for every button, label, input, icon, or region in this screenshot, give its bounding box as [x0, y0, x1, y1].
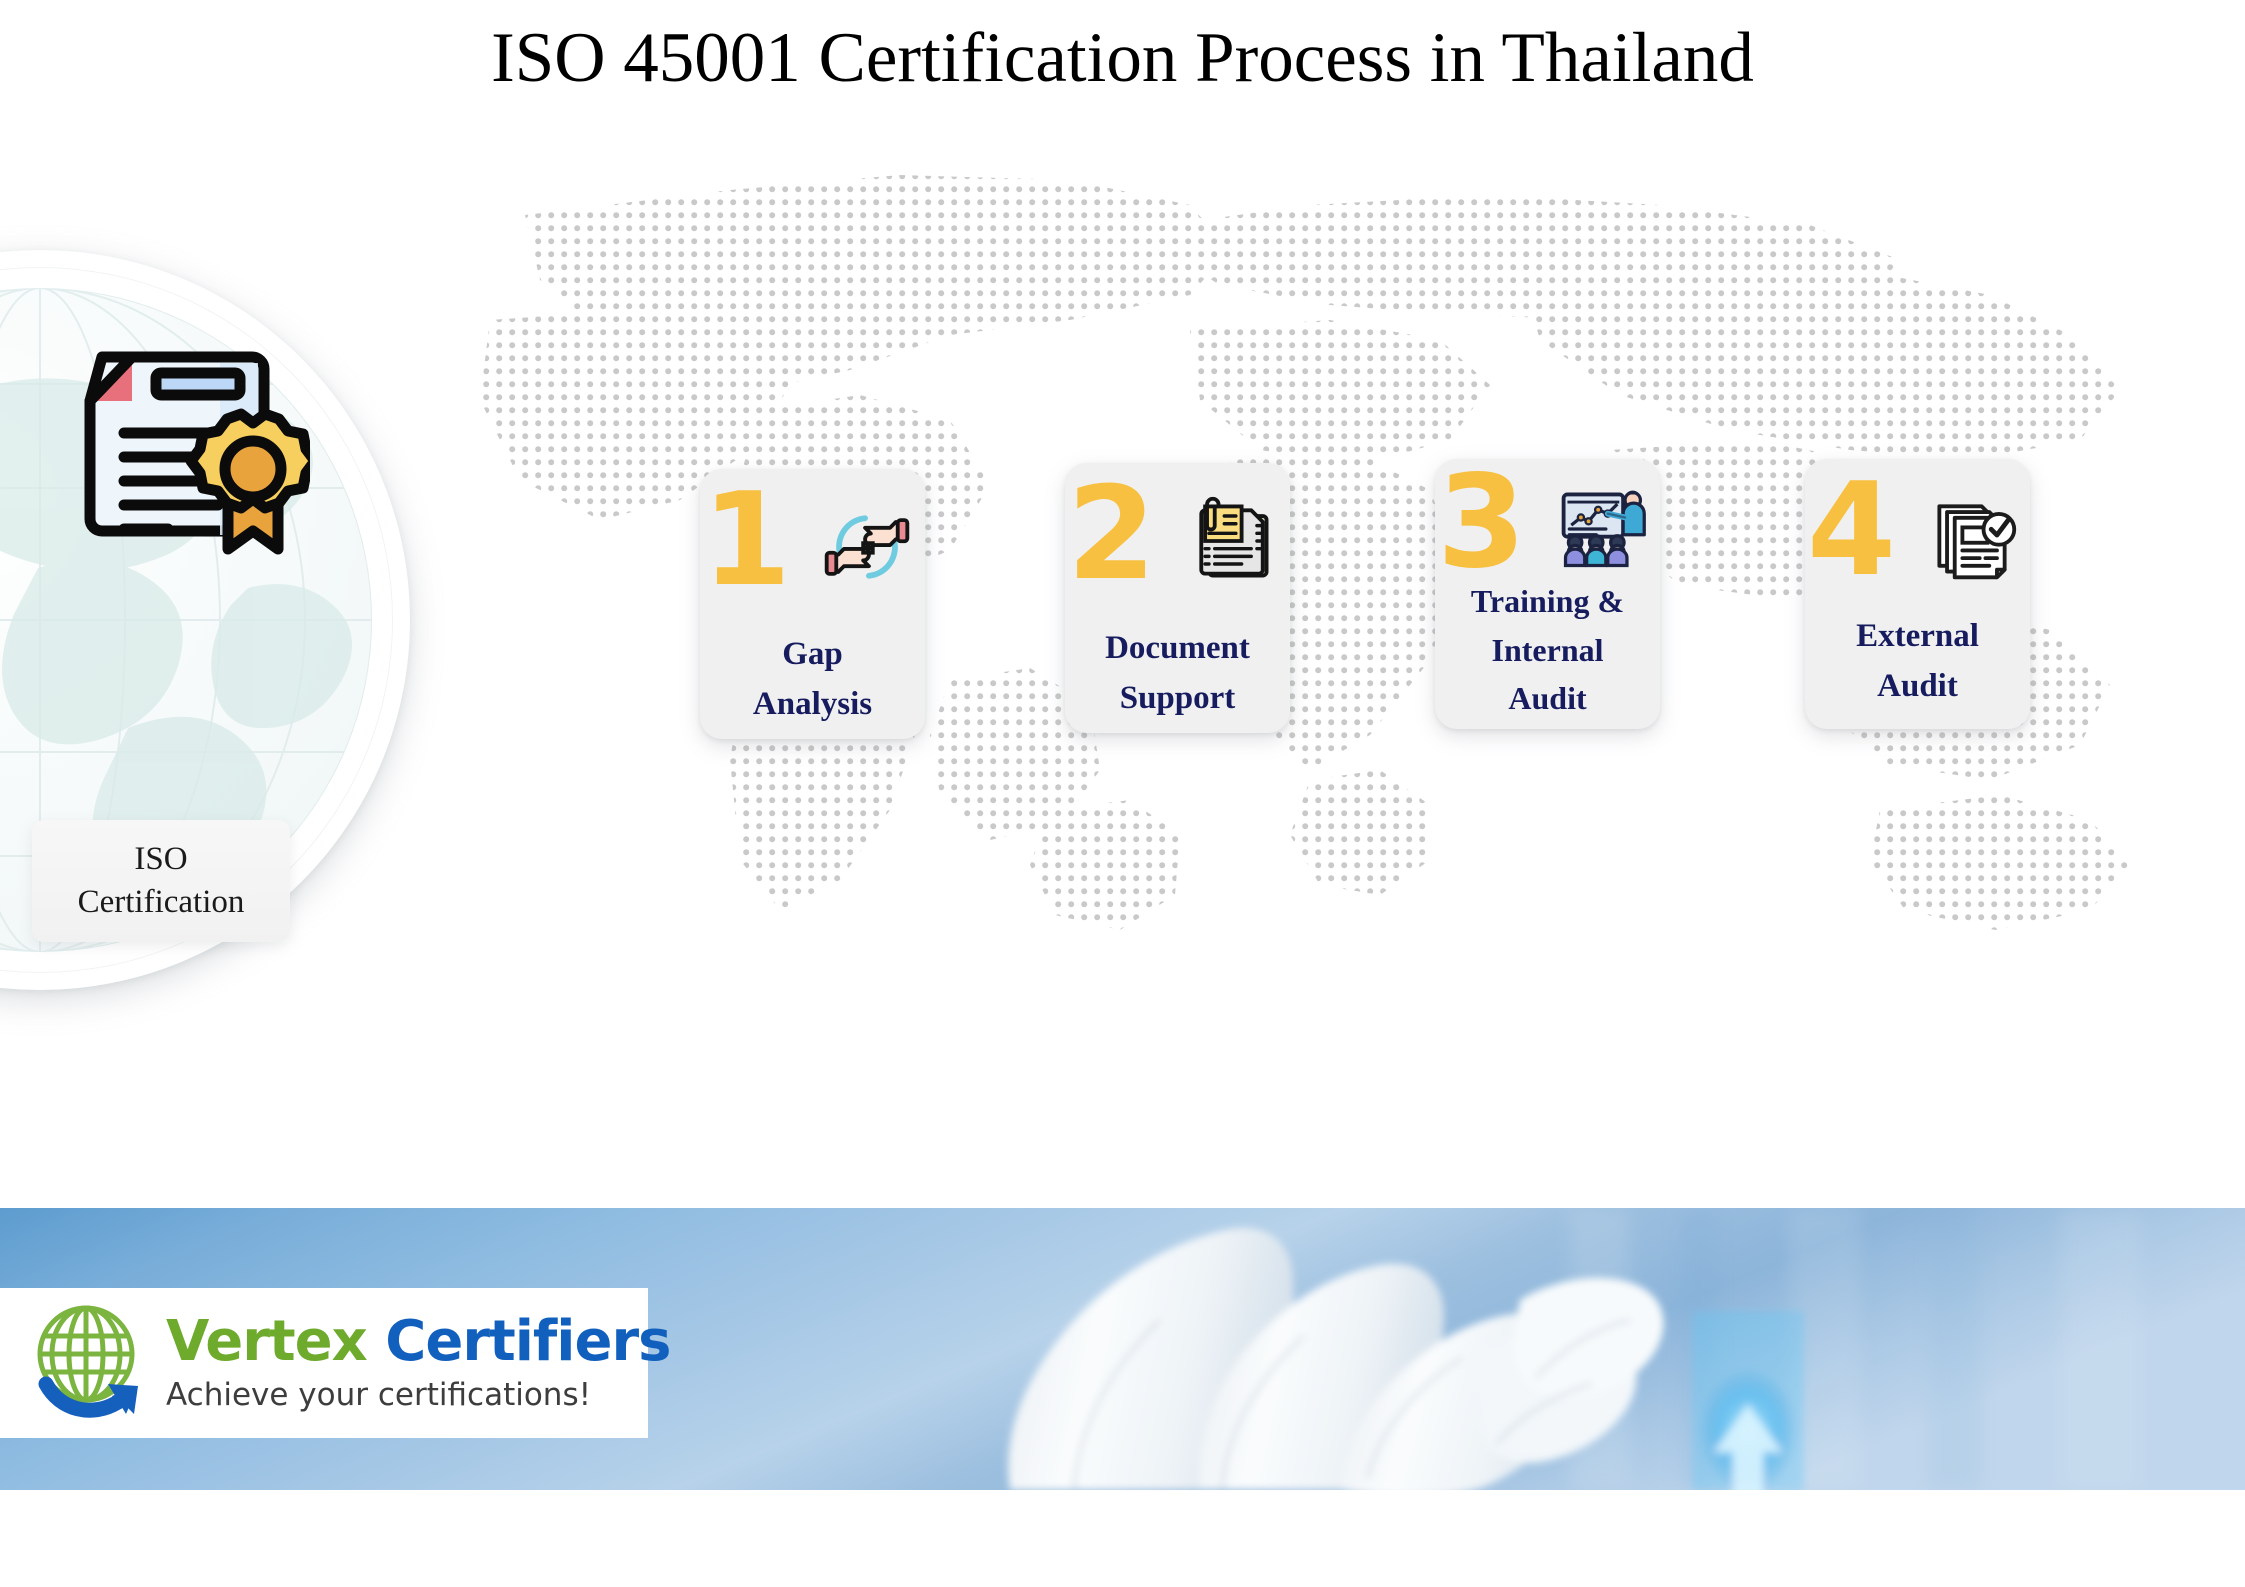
step-card-external-audit[interactable]: 4	[1805, 459, 2030, 729]
certificate-award-icon	[60, 315, 310, 565]
training-presentation-icon	[1554, 481, 1650, 577]
step-card-gap-analysis[interactable]: 1	[700, 469, 925, 739]
step-label-line1: External	[1811, 611, 2024, 661]
step-number: 4	[1807, 467, 1892, 595]
step-card-label: Document Support	[1071, 623, 1284, 723]
brand-logo[interactable]: Vertex Certifiers Achieve your certifica…	[0, 1288, 648, 1438]
step-label-line1: Gap	[706, 629, 919, 679]
step-label-line1: Training &	[1441, 577, 1654, 626]
step-number: 3	[1437, 459, 1522, 587]
step-card-label: Gap Analysis	[706, 629, 919, 729]
step-card-header: 2	[1065, 475, 1290, 600]
step-label-line2: Internal	[1441, 626, 1654, 675]
iso-label-line1: ISO	[134, 838, 187, 881]
iso-label-line2: Certification	[78, 881, 245, 924]
step-number: 1	[702, 477, 787, 605]
step-card-header: 1	[700, 481, 925, 606]
brand-text: Vertex Certifiers Achieve your certifica…	[166, 1313, 670, 1412]
step-number: 2	[1067, 471, 1152, 599]
step-card-header: 4	[1805, 471, 2030, 596]
step-card-label: External Audit	[1811, 611, 2024, 711]
step-label-line2: Analysis	[706, 679, 919, 729]
brand-tagline: Achieve your certifications!	[166, 1377, 670, 1413]
hero-section: ISO Certification 1	[0, 120, 2245, 1210]
brand-title: Vertex Certifiers	[166, 1313, 670, 1370]
handshake-collaboration-icon	[819, 499, 915, 595]
document-clipboard-icon	[1184, 493, 1280, 589]
brand-word-vertex: Vertex	[166, 1309, 367, 1374]
brand-word-certifiers: Certifiers	[385, 1309, 670, 1374]
step-label-line1: Document	[1071, 623, 1284, 673]
step-card-document-support[interactable]: 2	[1065, 463, 1290, 733]
page-title: ISO 45001 Certification Process in Thail…	[0, 18, 2245, 99]
step-card-label: Training & Internal Audit	[1441, 577, 1654, 723]
process-steps: 1	[700, 335, 2200, 895]
step-card-header: 3	[1435, 463, 1660, 588]
iso-certification-label-card: ISO Certification	[32, 820, 290, 942]
step-label-line2: Support	[1071, 673, 1284, 723]
step-label-line2: Audit	[1811, 661, 2024, 711]
document-check-audit-icon	[1924, 489, 2020, 585]
step-card-training-internal-audit[interactable]: 3	[1435, 459, 1660, 729]
infographic-page: ISO 45001 Certification Process in Thail…	[0, 0, 2245, 1587]
step-label-line3: Audit	[1441, 674, 1654, 723]
globe-arrow-logo-icon	[26, 1300, 154, 1426]
